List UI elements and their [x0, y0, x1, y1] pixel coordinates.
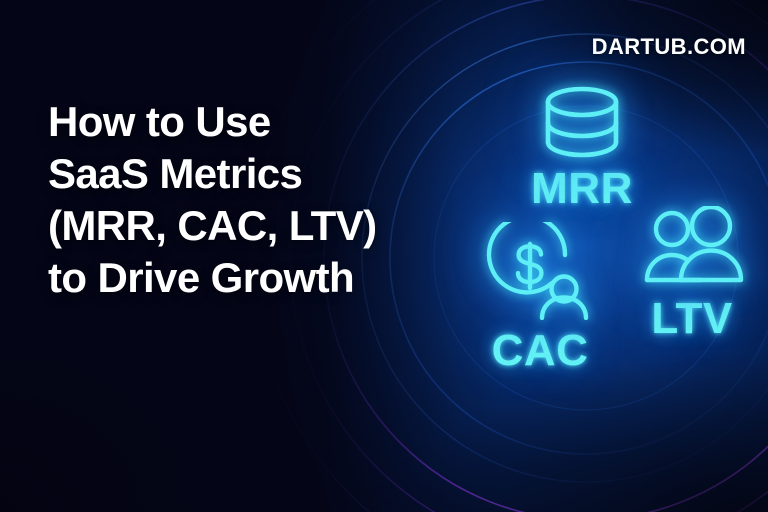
dollar-coin-person-icon [485, 222, 595, 320]
metric-mrr: MRR [497, 86, 667, 214]
database-icon [540, 86, 624, 158]
title-line-2: SaaS Metrics [48, 148, 428, 200]
title-line-3: (MRR, CAC, LTV) [48, 200, 428, 252]
blog-banner-graphic: DARTUB.COM How to Use SaaS Metrics (MRR,… [0, 0, 768, 512]
metric-cac: CAC [450, 222, 630, 376]
metric-cac-label: CAC [492, 326, 589, 376]
metric-ltv-label: LTV [651, 294, 732, 344]
title-line-1: How to Use [48, 96, 428, 148]
site-logo: DARTUB.COM [592, 34, 746, 60]
people-group-icon [639, 206, 745, 288]
page-title: How to Use SaaS Metrics (MRR, CAC, LTV) … [48, 96, 428, 303]
title-line-4: to Drive Growth [48, 252, 428, 304]
metric-ltv: LTV [612, 206, 768, 344]
